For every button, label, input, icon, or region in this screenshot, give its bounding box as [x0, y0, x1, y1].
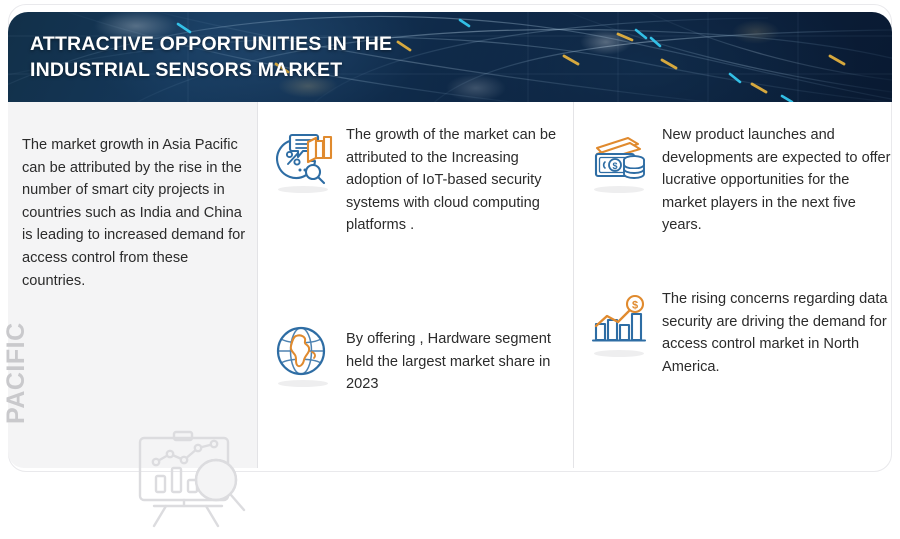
content-area: The market growth in Asia Pacific can be…	[8, 102, 892, 472]
right-column: $ New product launches and developments …	[574, 102, 892, 468]
presentation-chart-magnifier-icon	[126, 424, 256, 534]
insight-text-data-security: The rising concerns regarding data secur…	[662, 288, 894, 378]
bar-chart-growth-dollar-icon: $	[588, 292, 650, 354]
icon-shadow	[278, 186, 328, 193]
insight-item-data-security: $ The rising concerns regarding data sec…	[588, 292, 894, 378]
pie-chart-bar-chart-analysis-icon	[272, 128, 334, 190]
left-region-panel: The market growth in Asia Pacific can be…	[8, 102, 258, 468]
middle-column: The growth of the market can be attribut…	[258, 102, 574, 468]
svg-text:$: $	[632, 300, 638, 312]
svg-text:$: $	[612, 161, 617, 171]
insight-text-hardware-segment: By offering , Hardware segment held the …	[346, 328, 556, 396]
globe-icon	[272, 322, 334, 384]
icon-shadow	[278, 380, 328, 387]
page-title: ATTRACTIVE OPPORTUNITIES IN THE INDUSTRI…	[30, 31, 392, 83]
insight-text-new-products: New product launches and developments ar…	[662, 124, 894, 237]
region-label: ASIA PACIFIC	[0, 284, 30, 424]
header-banner: ATTRACTIVE OPPORTUNITIES IN THE INDUSTRI…	[8, 12, 892, 102]
insight-item-new-products: $ New product launches and developments …	[588, 128, 894, 237]
insight-text-iot-growth: The growth of the market can be attribut…	[346, 124, 564, 237]
icon-shadow	[594, 186, 644, 193]
left-panel-paragraph: The market growth in Asia Pacific can be…	[22, 134, 250, 292]
insight-item-hardware-segment: By offering , Hardware segment held the …	[272, 322, 572, 396]
insight-item-iot-growth: The growth of the market can be attribut…	[272, 128, 572, 237]
icon-shadow	[594, 350, 644, 357]
money-banknotes-coins-icon: $	[588, 128, 650, 190]
infographic-root: ATTRACTIVE OPPORTUNITIES IN THE INDUSTRI…	[0, 0, 900, 479]
